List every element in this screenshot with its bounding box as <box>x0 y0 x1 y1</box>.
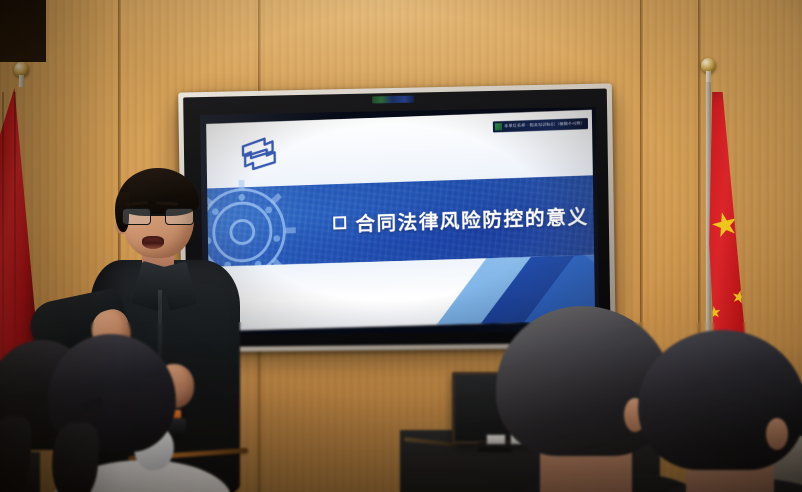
finial-neck <box>19 75 24 87</box>
presentation-photo-scene: 本单位名称 · 相关培训标识（模糊不可辨） <box>0 0 802 492</box>
badge-text: 本单位名称 · 相关培训标识（模糊不可辨） <box>504 121 585 128</box>
attendee-front-right-b <box>638 330 802 492</box>
eyeglasses-icon <box>122 208 194 226</box>
badge-emblem-icon <box>495 122 502 129</box>
glasses-lens <box>165 208 194 225</box>
wall-recess <box>0 0 46 62</box>
attendee-ponytail <box>0 414 34 492</box>
tv-screen: 本单位名称 · 相关培训标识（模糊不可辨） <box>200 107 599 335</box>
glasses-bridge <box>151 214 165 216</box>
flag-star-small-icon <box>731 289 748 306</box>
glasses-lens <box>122 208 151 225</box>
attendee-ear <box>766 418 788 450</box>
flag-star-large-icon <box>709 209 741 241</box>
slide-corner-badge: 本单位名称 · 相关培训标识（模糊不可辨） <box>493 117 588 132</box>
presentation-slide: 本单位名称 · 相关培训标识（模糊不可辨） <box>206 109 595 330</box>
speaker-mouth <box>142 236 164 249</box>
attendee-front-left-b <box>42 334 202 492</box>
tv-brand-label <box>372 96 414 104</box>
slide-bullet-square-icon <box>334 216 347 229</box>
slide-title-band: 合同法律风险防控的意义 <box>207 175 594 267</box>
